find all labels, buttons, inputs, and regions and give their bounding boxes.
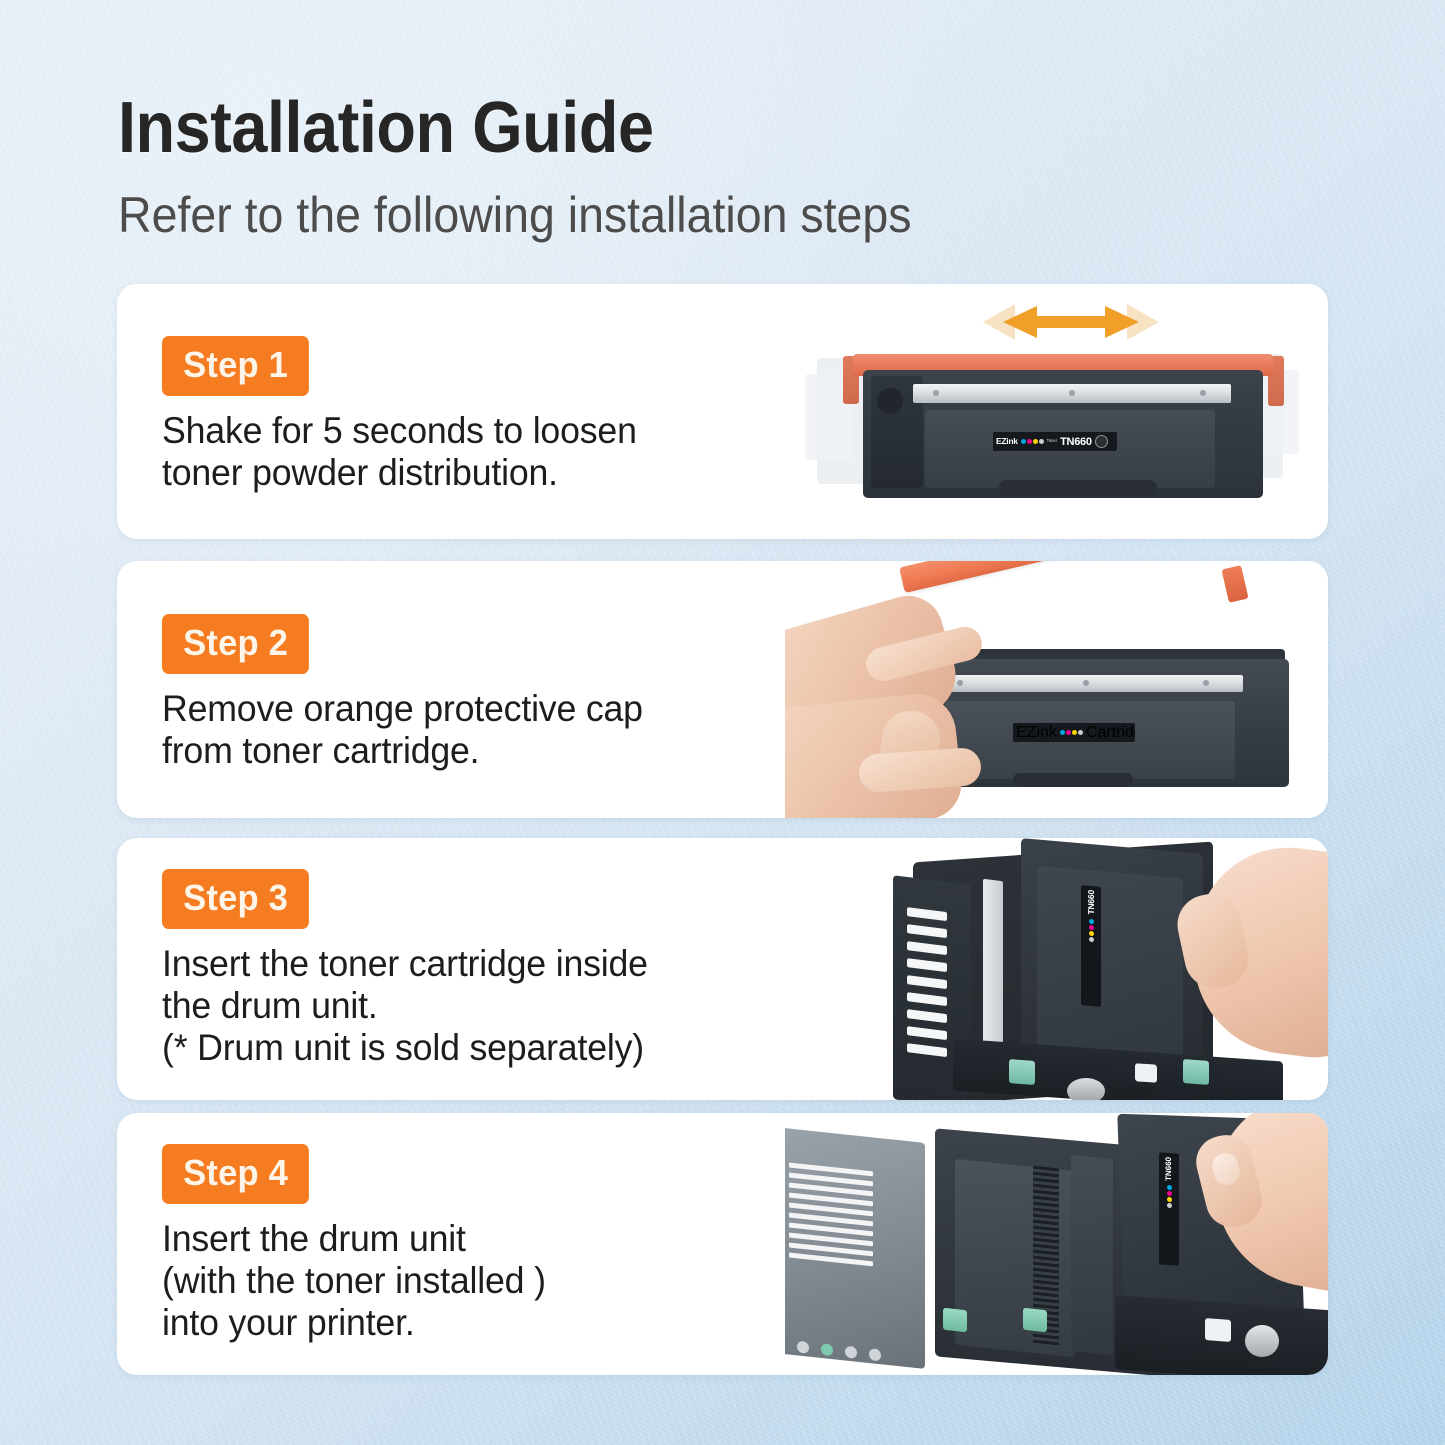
- drum-roller: [1067, 1078, 1105, 1100]
- model-text: TN660: [1165, 1157, 1173, 1182]
- step-card-2: Step 2 Remove orange protective cap from…: [117, 561, 1328, 818]
- cartridge-silver-strip: [937, 675, 1243, 692]
- step-2-description: Remove orange protective cap from toner …: [162, 688, 763, 772]
- model-text: TN660: [1060, 436, 1092, 448]
- drum-white-gear: [1205, 1318, 1231, 1342]
- screw-icon: [933, 390, 939, 396]
- step-card-1: Step 1 Shake for 5 seconds to loosen ton…: [117, 284, 1328, 539]
- step-3-description: Insert the toner cartridge inside the dr…: [162, 943, 763, 1068]
- step-1-description: Shake for 5 seconds to loosen toner powd…: [162, 410, 763, 494]
- printer-teal-guide: [1023, 1308, 1047, 1333]
- drum-teal-slider: [1009, 1059, 1035, 1085]
- step-2-image: EZink Cartridge TN660: [785, 561, 1328, 818]
- step-card-3: Step 3 Insert the toner cartridge inside…: [117, 838, 1328, 1100]
- model-text: TN660: [1087, 890, 1096, 915]
- seal-icon: [1095, 435, 1108, 448]
- cmyk-dots-icon: [1060, 730, 1083, 735]
- product-label: TN660: [1159, 1152, 1179, 1265]
- printer-vent-grille: [789, 1162, 875, 1283]
- step-2-text-block: Step 2 Remove orange protective cap from…: [117, 561, 785, 818]
- page-header: Installation Guide Refer to the followin…: [118, 92, 1298, 240]
- drum-white-gear: [1135, 1063, 1157, 1083]
- cmyk-dots-icon: [1021, 439, 1044, 444]
- toner-cartridge-shake-illustration: EZink Toner TN660: [785, 284, 1328, 539]
- screw-icon: [1083, 680, 1089, 686]
- brand-text: EZink: [1016, 724, 1057, 742]
- cartridge-hub-circle: [877, 388, 903, 414]
- drum-into-printer-illustration: TN660: [785, 1113, 1328, 1375]
- orange-protective-cap: [899, 561, 1226, 593]
- label-type-line-2: Cartridge: [1086, 724, 1135, 742]
- step-1-badge: Step 1: [162, 336, 309, 396]
- shake-arrow-icon: [981, 300, 1161, 344]
- orange-cap-tip: [1221, 565, 1248, 603]
- printer-rail: [1071, 1155, 1113, 1355]
- step-3-text-block: Step 3 Insert the toner cartridge inside…: [117, 838, 785, 1100]
- toner-cartridge-face: [1037, 866, 1183, 1059]
- step-1-text-block: Step 1 Shake for 5 seconds to loosen ton…: [117, 284, 785, 539]
- toner-into-drum-illustration: TN660: [785, 838, 1328, 1100]
- screw-icon: [1203, 680, 1209, 686]
- step-4-text-block: Step 4 Insert the drum unit (with the to…: [117, 1113, 785, 1375]
- cmyk-dots-icon: [1089, 918, 1094, 941]
- step-4-image: TN660: [785, 1113, 1328, 1375]
- drum-roller: [1245, 1325, 1279, 1357]
- step-4-badge: Step 4: [162, 1144, 309, 1204]
- step-2-badge: Step 2: [162, 614, 309, 674]
- installation-guide-page: Installation Guide Refer to the followin…: [0, 0, 1445, 1445]
- step-1-image: EZink Toner TN660: [785, 284, 1328, 539]
- product-label: EZink Cartridge TN660: [1013, 723, 1135, 742]
- page-title: Installation Guide: [118, 92, 1180, 164]
- drum-vents: [907, 907, 953, 1083]
- cartridge-handle: [999, 480, 1157, 496]
- screw-icon: [1069, 390, 1075, 396]
- screw-icon: [957, 680, 963, 686]
- step-3-badge: Step 3: [162, 869, 309, 929]
- product-label: EZink Toner TN660: [993, 432, 1117, 451]
- hands-removing-cap-illustration: EZink Cartridge TN660: [785, 561, 1328, 818]
- cartridge-handle: [1013, 773, 1133, 787]
- drum-teal-slider: [1183, 1059, 1209, 1085]
- page-subtitle: Refer to the following installation step…: [118, 190, 1215, 240]
- cmyk-dots-icon: [1167, 1185, 1172, 1208]
- step-card-4: Step 4 Insert the drum unit (with the to…: [117, 1113, 1328, 1375]
- product-label: TN660: [1081, 885, 1101, 1007]
- label-type-line-1: Toner: [1047, 439, 1057, 443]
- step-4-description: Insert the drum unit (with the toner ins…: [162, 1218, 763, 1343]
- step-3-image: TN660: [785, 838, 1328, 1100]
- brand-text: EZink: [996, 437, 1018, 446]
- printer-teal-guide: [943, 1308, 967, 1333]
- screw-icon: [1200, 390, 1206, 396]
